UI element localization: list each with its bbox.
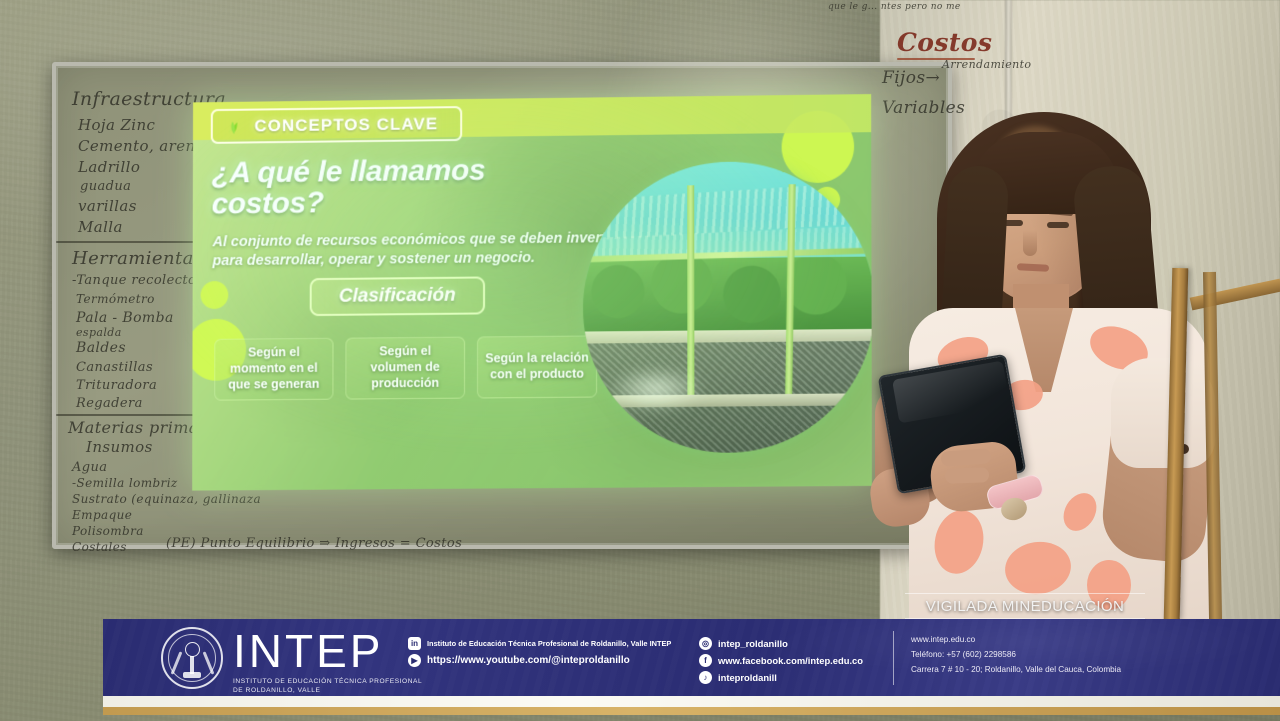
slide-section-label-box: Clasificación — [310, 276, 485, 316]
note-item: varillas — [78, 197, 137, 215]
banner-contact-info: www.intep.edu.co Teléfono: +57 (602) 229… — [911, 635, 1121, 674]
note-item: Termómetro — [76, 292, 155, 306]
social-row-instagram[interactable]: ◎ intep_roldanillo — [699, 637, 894, 650]
note-section3-title: Materias primas — [68, 418, 207, 437]
slide-card: Según el volumen de producción — [345, 337, 465, 400]
note-item: Hoja Zinc — [78, 116, 155, 134]
decorative-circle — [201, 281, 229, 309]
vigilada-watermark: VIGILADA MINEDUCACIÓN — [905, 593, 1145, 619]
linkedin-icon: in — [408, 637, 421, 650]
social-row-youtube[interactable]: ▶ https://www.youtube.com/@inteproldanil… — [408, 654, 693, 667]
slide-badge: CONCEPTOS CLAVE — [211, 106, 462, 144]
finger — [945, 467, 989, 484]
slide-circular-photo — [583, 160, 872, 454]
note-item: Pala - Bomba — [76, 310, 174, 326]
sleeve-right — [1111, 358, 1215, 468]
slide-card-label: Según la relación con el producto — [484, 351, 590, 383]
note-item: Trituradora — [76, 378, 157, 393]
slide-card: Según la relación con el producto — [477, 335, 597, 398]
banner-gold-stripe — [103, 707, 1280, 715]
note-item: -Semilla lombriz — [72, 476, 178, 490]
banner-contacts: in Instituto de Educación Técnica Profes… — [408, 637, 894, 684]
institution-subtitle-line2: DE ROLDANILLO, VALLE — [233, 687, 422, 696]
instructor-figure — [875, 112, 1215, 624]
eye-right — [1047, 222, 1069, 228]
slide-badge-label: CONCEPTOS CLAVE — [254, 114, 438, 136]
note-costos-item1-note: Arrendamiento — [942, 58, 1031, 71]
tiktok-icon: ♪ — [699, 671, 712, 684]
note-item: Costales — [72, 540, 127, 554]
slide-headline: ¿A qué le llamamos costos? — [212, 154, 540, 220]
classroom-scene: Infraestructura Hoja Zinc Cemento, arena… — [0, 0, 1280, 721]
youtube-icon: ▶ — [408, 654, 421, 667]
social-column-1: in Instituto de Educación Técnica Profes… — [408, 637, 693, 684]
linkedin-label: Instituto de Educación Técnica Profesion… — [427, 639, 671, 648]
institution-name: INTEP — [233, 628, 422, 674]
social-column-2: ◎ intep_roldanillo f www.facebook.com/in… — [699, 637, 894, 684]
facebook-icon: f — [699, 654, 712, 667]
note-item: Polisombra — [72, 524, 144, 538]
institutional-seal-icon — [161, 627, 223, 689]
slide-card-label: Según el momento en el que se generan — [221, 345, 326, 393]
slide-card-group: Según el momento en el que se generan Se… — [214, 335, 597, 400]
note-divider — [56, 241, 206, 243]
institution-wordmark: INTEP INSTITUTO DE EDUCACIÓN TÉCNICA PRO… — [233, 628, 422, 696]
nose — [1023, 230, 1037, 256]
note-item: Empaque — [72, 508, 132, 522]
contact-website[interactable]: www.intep.edu.co — [911, 635, 1121, 644]
note-item: Baldes — [76, 340, 126, 356]
note-item: Regadera — [76, 396, 143, 411]
contact-phone: Teléfono: +57 (602) 2298586 — [911, 650, 1121, 659]
slide-definition: Al conjunto de recursos económicos que s… — [212, 229, 623, 272]
social-row-tiktok[interactable]: ♪ inteproldanill — [699, 671, 894, 684]
instagram-icon: ◎ — [699, 637, 712, 650]
social-row-facebook[interactable]: f www.facebook.com/intep.edu.co — [699, 654, 894, 667]
social-row-linkedin[interactable]: in Instituto de Educación Técnica Profes… — [408, 637, 693, 650]
note-section2-title: Herramientas — [72, 248, 203, 269]
instagram-label: intep_roldanillo — [718, 638, 788, 649]
banner-divider — [893, 631, 894, 685]
institutional-banner: INTEP INSTITUTO DE EDUCACIÓN TÉCNICA PRO… — [103, 619, 1280, 696]
tiktok-label: inteproldanill — [718, 672, 777, 683]
note-item: Agua — [72, 460, 107, 475]
note-item: Sustrato (equinaza, gallinaza — [72, 492, 261, 506]
contact-address: Carrera 7 # 10 - 20; Roldanillo, Valle d… — [911, 665, 1121, 674]
vigilada-watermark-text: VIGILADA MINEDUCACIÓN — [926, 598, 1124, 615]
note-costos-title: Costos — [897, 28, 992, 57]
facebook-label: www.facebook.com/intep.edu.co — [718, 655, 863, 666]
note-costos-item1: Fijos→ — [882, 68, 940, 88]
note-item: -Tanque recolector — [72, 273, 203, 288]
note-section3-subtitle: Insumos — [86, 438, 153, 456]
projected-slide: CONCEPTOS CLAVE ¿A qué le llamamos costo… — [192, 94, 872, 491]
note-item: Malla — [78, 218, 123, 236]
slide-section-label: Clasificación — [339, 285, 456, 308]
note-partial-top: que le g... ntes pero no me — [828, 2, 961, 12]
note-item: Canastillas — [76, 360, 153, 375]
note-item: Cemento, arena — [78, 137, 205, 155]
note-item: Ladrillo — [78, 158, 140, 176]
photo-green-tint — [583, 160, 872, 454]
note-formula: (PE) Punto Equilibrio ⇒ Ingresos = Costo… — [166, 536, 462, 551]
slide-card: Según el momento en el que se generan — [214, 338, 333, 401]
slide-card-label: Según el volumen de producción — [352, 344, 458, 392]
banner-white-stripe — [103, 696, 1280, 707]
leaf-icon — [225, 117, 244, 136]
note-item: espalda — [76, 326, 122, 339]
youtube-label: https://www.youtube.com/@inteproldanillo — [427, 655, 630, 666]
institution-subtitle-line1: INSTITUTO DE EDUCACIÓN TÉCNICA PROFESION… — [233, 678, 422, 687]
note-item: guadua — [80, 179, 131, 194]
